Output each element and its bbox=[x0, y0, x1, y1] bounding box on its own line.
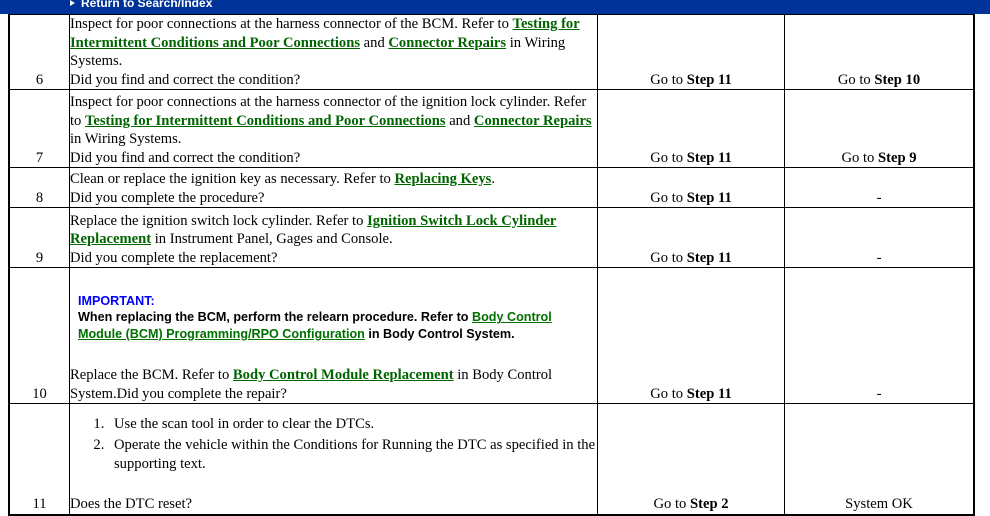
diagnostic-steps-table: 6Inspect for poor connections at the har… bbox=[8, 14, 975, 516]
step-description-cell: Inspect for poor connections at the harn… bbox=[70, 90, 598, 168]
step-question: Did you complete the procedure? bbox=[70, 189, 597, 208]
body-text: and bbox=[446, 113, 474, 129]
table-body: 6Inspect for poor connections at the har… bbox=[9, 15, 974, 515]
answer-prefix: Go to bbox=[654, 496, 690, 512]
answer-step-target: Step 11 bbox=[687, 150, 732, 166]
step-number-cell: 8 bbox=[9, 168, 70, 208]
body-text: . bbox=[491, 171, 495, 187]
answer-no-cell: - bbox=[785, 168, 975, 208]
step-question: Does the DTC reset? bbox=[70, 495, 597, 514]
answer-no-cell: System OK bbox=[785, 404, 975, 515]
table-row: 7Inspect for poor connections at the har… bbox=[9, 90, 974, 168]
answer-prefix: Go to bbox=[838, 72, 874, 88]
answer-prefix: Go to bbox=[650, 250, 686, 266]
body-text: in Wiring Systems. bbox=[70, 131, 181, 147]
answer-prefix: System OK bbox=[845, 496, 913, 512]
step-description-cell: IMPORTANT:When replacing the BCM, perfor… bbox=[70, 268, 598, 404]
step-number-cell: 7 bbox=[9, 90, 70, 168]
step-instruction: Clean or replace the ignition key as nec… bbox=[70, 170, 597, 189]
answer-prefix: Go to bbox=[842, 150, 878, 166]
step-number-cell: 10 bbox=[9, 268, 70, 404]
body-text: Clean or replace the ignition key as nec… bbox=[70, 171, 394, 187]
answer-no-cell: - bbox=[785, 268, 975, 404]
step-number-cell: 9 bbox=[9, 208, 70, 268]
body-text: Inspect for poor connections at the harn… bbox=[70, 16, 513, 32]
triangle-right-icon bbox=[70, 0, 75, 6]
answer-step-target: Step 11 bbox=[687, 250, 732, 266]
list-item: Operate the vehicle within the Condition… bbox=[108, 436, 597, 473]
step-instruction: Replace the ignition switch lock cylinde… bbox=[70, 212, 597, 249]
answer-prefix: Go to bbox=[650, 150, 686, 166]
answer-yes-cell: Go to Step 11 bbox=[598, 208, 785, 268]
step-instruction: Replace the BCM. Refer to Body Control M… bbox=[70, 342, 597, 403]
body-text: When replacing the BCM, perform the rele… bbox=[78, 310, 472, 324]
body-text: and bbox=[360, 35, 388, 51]
answer-no-cell: Go to Step 9 bbox=[785, 90, 975, 168]
step-number-cell: 11 bbox=[9, 404, 70, 515]
answer-yes-cell: Go to Step 11 bbox=[598, 268, 785, 404]
body-text: in Body Control System. bbox=[365, 327, 515, 341]
important-note-title: IMPORTANT: bbox=[78, 293, 597, 309]
answer-step-target: Step 11 bbox=[687, 190, 732, 206]
answer-step-target: Step 9 bbox=[878, 150, 917, 166]
body-text: Replace the ignition switch lock cylinde… bbox=[70, 213, 367, 229]
answer-step-target: Step 11 bbox=[687, 386, 732, 402]
answer-prefix: - bbox=[877, 190, 882, 206]
table-row: 6Inspect for poor connections at the har… bbox=[9, 15, 974, 90]
step-description-cell: Inspect for poor connections at the harn… bbox=[70, 15, 598, 90]
answer-step-target: Step 10 bbox=[874, 72, 920, 88]
answer-yes-cell: Go to Step 11 bbox=[598, 15, 785, 90]
answer-no-cell: - bbox=[785, 208, 975, 268]
step-question: Did you find and correct the condition? bbox=[70, 71, 597, 90]
table-row: 8Clean or replace the ignition key as ne… bbox=[9, 168, 974, 208]
answer-yes-cell: Go to Step 11 bbox=[598, 90, 785, 168]
important-note: IMPORTANT:When replacing the BCM, perfor… bbox=[70, 290, 597, 342]
answer-yes-cell: Go to Step 11 bbox=[598, 168, 785, 208]
reference-link[interactable]: Body Control Module Replacement bbox=[233, 367, 454, 383]
step-number-cell: 6 bbox=[9, 15, 70, 90]
banner-content[interactable]: Return to Search/Index bbox=[70, 0, 212, 14]
step-description-cell: Replace the ignition switch lock cylinde… bbox=[70, 208, 598, 268]
answer-step-target: Step 11 bbox=[687, 72, 732, 88]
return-to-search-index-banner[interactable]: Return to Search/Index bbox=[0, 0, 990, 14]
answer-prefix: Go to bbox=[650, 72, 686, 88]
banner-label: Return to Search/Index bbox=[81, 0, 212, 10]
body-text: Replace the BCM. Refer to bbox=[70, 367, 233, 383]
step-question: Did you find and correct the condition? bbox=[70, 149, 597, 168]
table-row: 9Replace the ignition switch lock cylind… bbox=[9, 208, 974, 268]
reference-link[interactable]: Connector Repairs bbox=[388, 35, 506, 51]
reference-link[interactable]: Testing for Intermittent Conditions and … bbox=[85, 113, 446, 129]
body-text: in Instrument Panel, Gages and Console. bbox=[151, 231, 393, 247]
step-instruction: Inspect for poor connections at the harn… bbox=[70, 93, 597, 149]
reference-link[interactable]: Replacing Keys bbox=[394, 171, 491, 187]
step-instruction: Inspect for poor connections at the harn… bbox=[70, 15, 597, 71]
list-item: Use the scan tool in order to clear the … bbox=[108, 415, 597, 434]
answer-prefix: - bbox=[877, 386, 882, 402]
step-description-cell: Use the scan tool in order to clear the … bbox=[70, 404, 598, 515]
step-description-cell: Clean or replace the ignition key as nec… bbox=[70, 168, 598, 208]
answer-no-cell: Go to Step 10 bbox=[785, 15, 975, 90]
answer-prefix: Go to bbox=[650, 386, 686, 402]
reference-link[interactable]: Connector Repairs bbox=[474, 113, 592, 129]
table-row: 10IMPORTANT:When replacing the BCM, perf… bbox=[9, 268, 974, 404]
answer-step-target: Step 2 bbox=[690, 496, 729, 512]
answer-prefix: Go to bbox=[650, 190, 686, 206]
answer-prefix: - bbox=[877, 250, 882, 266]
answer-yes-cell: Go to Step 2 bbox=[598, 404, 785, 515]
important-note-body: When replacing the BCM, perform the rele… bbox=[78, 309, 597, 342]
step-question: Did you complete the replacement? bbox=[70, 249, 597, 268]
numbered-instruction-list: Use the scan tool in order to clear the … bbox=[70, 415, 597, 474]
table-row: 11Use the scan tool in order to clear th… bbox=[9, 404, 974, 515]
